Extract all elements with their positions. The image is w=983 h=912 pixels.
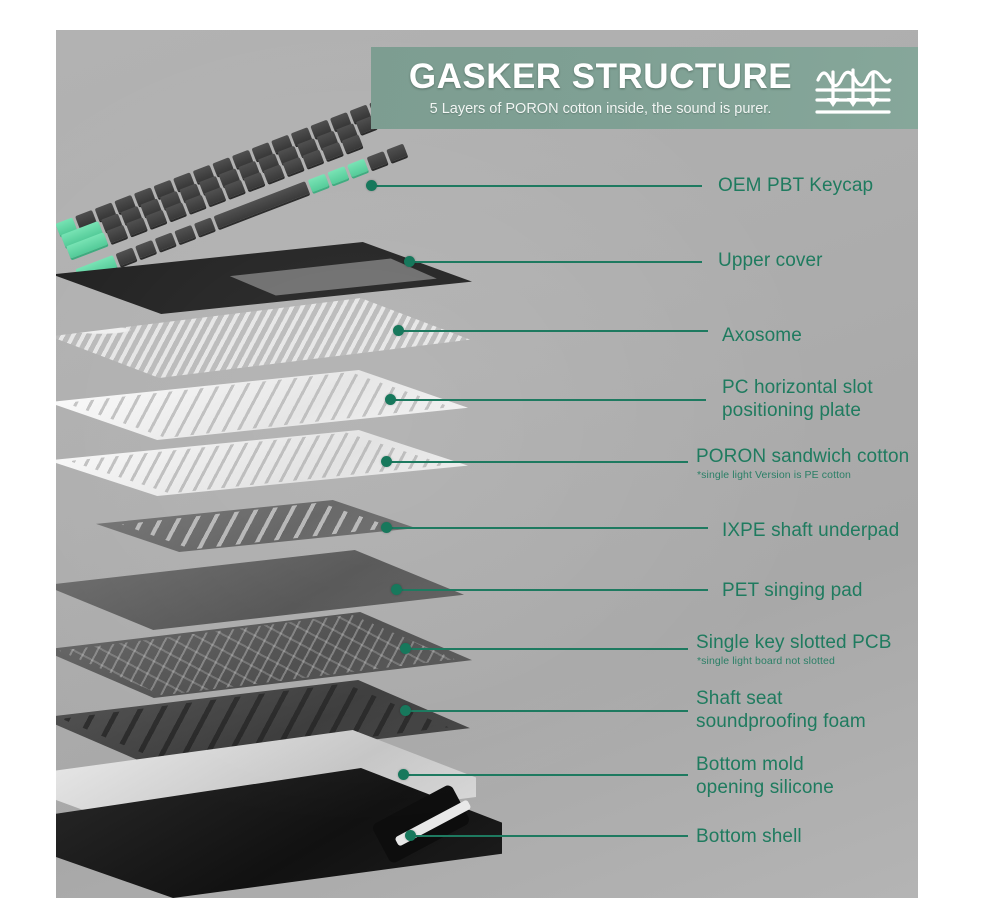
callout-leader-line-axosome xyxy=(402,330,708,332)
callout-label-pc-horizontal-slot-positioning-plate: PC horizontal slot positioning plate xyxy=(722,376,873,422)
keycap xyxy=(194,217,215,236)
callout-leader-line-shaft-seat-soundproofing-foam xyxy=(409,710,688,712)
callout-dot-oem-pbt-keycap[interactable] xyxy=(366,180,377,191)
callout-label-single-key-slotted-pcb: Single key slotted PCB xyxy=(696,631,891,654)
page-subtitle: 5 Layers of PORON cotton inside, the sou… xyxy=(430,101,772,117)
callout-dot-upper-cover[interactable] xyxy=(404,256,415,267)
keycap xyxy=(347,159,368,178)
callout-dot-pet-singing-pad[interactable] xyxy=(391,584,402,595)
callout-dot-poron-sandwich-cotton[interactable] xyxy=(381,456,392,467)
keycap xyxy=(327,166,348,185)
callout-leader-line-oem-pbt-keycap xyxy=(375,185,702,187)
callout-label-shaft-seat-soundproofing-foam: Shaft seat soundproofing foam xyxy=(696,687,866,733)
callout-dot-ixpe-shaft-underpad[interactable] xyxy=(381,522,392,533)
callout-leader-line-single-key-slotted-pcb xyxy=(409,648,688,650)
keycap xyxy=(115,247,136,266)
keycap xyxy=(308,174,329,193)
poster-root: GASKER STRUCTURE 5 Layers of PORON cotto… xyxy=(0,0,983,912)
keycap xyxy=(155,232,176,251)
callout-leader-line-poron-sandwich-cotton xyxy=(390,461,688,463)
callout-note-poron-sandwich-cotton: *single light Version is PE cotton xyxy=(697,469,851,482)
sound-absorption-layers-icon xyxy=(810,58,896,118)
layer-axosome-switches xyxy=(56,298,470,378)
page-title: GASKER STRUCTURE xyxy=(409,59,792,95)
callout-dot-shaft-seat-soundproofing-foam[interactable] xyxy=(400,705,411,716)
header-text-block: GASKER STRUCTURE 5 Layers of PORON cotto… xyxy=(371,59,810,118)
callout-leader-line-pet-singing-pad xyxy=(400,589,708,591)
callout-label-pet-singing-pad: PET singing pad xyxy=(722,579,863,602)
header-banner: GASKER STRUCTURE 5 Layers of PORON cotto… xyxy=(371,47,918,129)
callout-leader-line-bottom-mold-opening-silicone xyxy=(407,774,688,776)
callout-label-upper-cover: Upper cover xyxy=(718,249,823,272)
callout-dot-single-key-slotted-pcb[interactable] xyxy=(400,643,411,654)
keycap xyxy=(386,144,407,163)
keycap xyxy=(367,151,388,170)
callout-label-oem-pbt-keycap: OEM PBT Keycap xyxy=(718,174,873,197)
callout-label-bottom-mold-opening-silicone: Bottom mold opening silicone xyxy=(696,753,834,799)
callout-label-ixpe-shaft-underpad: IXPE shaft underpad xyxy=(722,519,899,542)
callout-leader-line-bottom-shell xyxy=(414,835,688,837)
keycap xyxy=(135,240,156,259)
callout-label-bottom-shell: Bottom shell xyxy=(696,825,802,848)
callout-leader-line-upper-cover xyxy=(413,261,702,263)
callout-leader-line-ixpe-shaft-underpad xyxy=(390,527,708,529)
callout-dot-bottom-shell[interactable] xyxy=(405,830,416,841)
callout-dot-bottom-mold-opening-silicone[interactable] xyxy=(398,769,409,780)
infographic-canvas: GASKER STRUCTURE 5 Layers of PORON cotto… xyxy=(56,30,918,898)
callout-leader-line-pc-horizontal-slot-positioning-plate xyxy=(394,399,706,401)
keycap xyxy=(174,225,195,244)
callout-dot-axosome[interactable] xyxy=(393,325,404,336)
callout-label-axosome: Axosome xyxy=(722,324,802,347)
callout-note-single-key-slotted-pcb: *single light board not slotted xyxy=(697,655,835,668)
callout-label-poron-sandwich-cotton: PORON sandwich cotton xyxy=(696,445,909,468)
callout-dot-pc-horizontal-slot-positioning-plate[interactable] xyxy=(385,394,396,405)
